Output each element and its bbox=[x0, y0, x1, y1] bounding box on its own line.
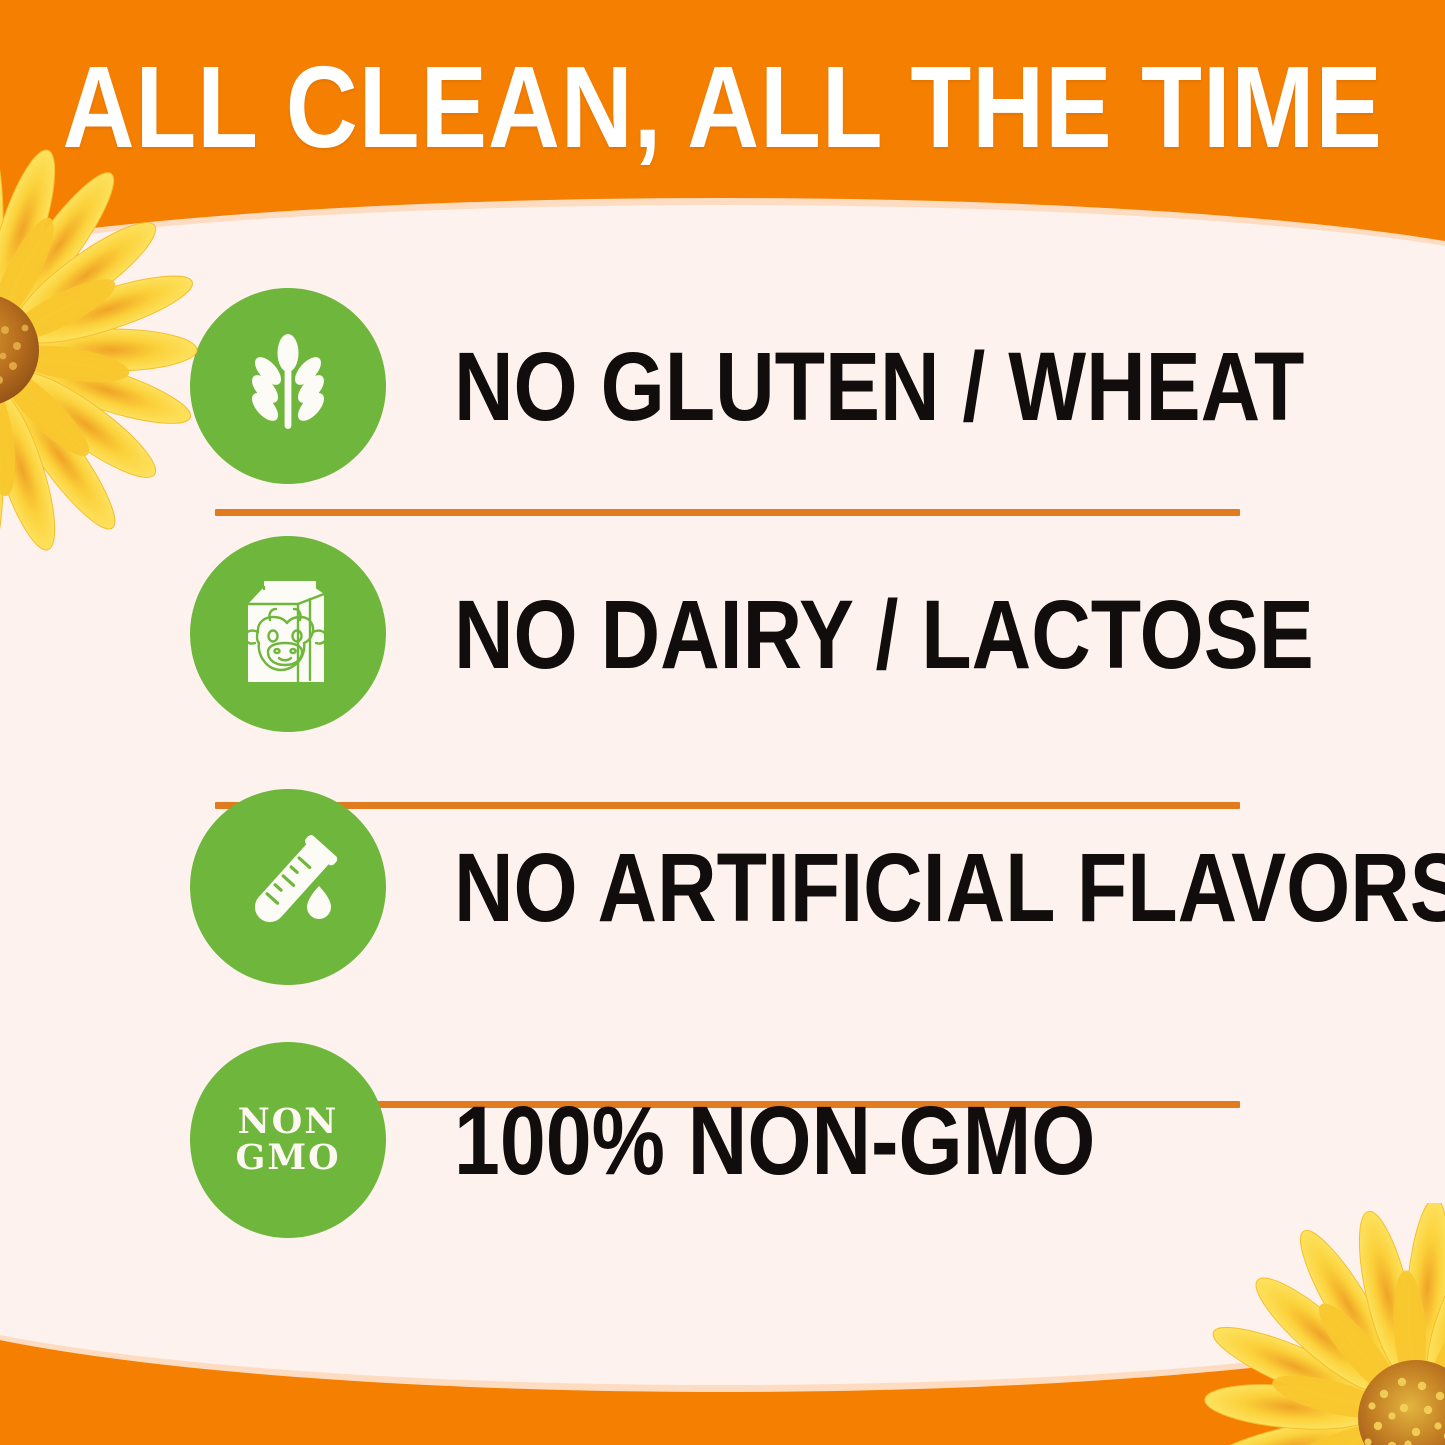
non-gmo-line2: GMO bbox=[235, 1140, 340, 1176]
feature-label: 100% NON-GMO bbox=[454, 1092, 1095, 1189]
badge-circle-nongmo: NON GMO bbox=[190, 1042, 386, 1238]
header-banner: ALL CLEAN, ALL THE TIME bbox=[0, 42, 1445, 172]
wheat-stalk-icon bbox=[238, 331, 338, 441]
feature-label: NO DAIRY / LACTOSE bbox=[454, 586, 1314, 683]
non-gmo-icon: NON GMO bbox=[235, 1104, 340, 1175]
feature-row: NO GLUTEN / WHEAT bbox=[0, 262, 1445, 510]
non-gmo-line1: NON bbox=[235, 1104, 340, 1140]
feature-label: NO ARTIFICIAL FLAVORS bbox=[454, 839, 1445, 936]
feature-row: NO DAIRY / LACTOSE bbox=[0, 510, 1445, 758]
test-tube-droplet-icon bbox=[229, 828, 347, 946]
page-title: ALL CLEAN, ALL THE TIME bbox=[62, 49, 1382, 165]
badge-circle-gluten bbox=[190, 288, 386, 484]
badge-circle-flavors bbox=[190, 789, 386, 985]
feature-list: NO GLUTEN / WHEAT bbox=[0, 262, 1445, 1264]
milk-carton-cow-icon bbox=[234, 576, 342, 692]
feature-row: NO ARTIFICIAL FLAVORS bbox=[0, 758, 1445, 1016]
promo-poster: ALL CLEAN, ALL THE TIME bbox=[0, 0, 1445, 1445]
feature-label: NO GLUTEN / WHEAT bbox=[454, 338, 1304, 435]
badge-circle-dairy bbox=[190, 536, 386, 732]
feature-row: NON GMO 100% NON-GMO bbox=[0, 1016, 1445, 1264]
